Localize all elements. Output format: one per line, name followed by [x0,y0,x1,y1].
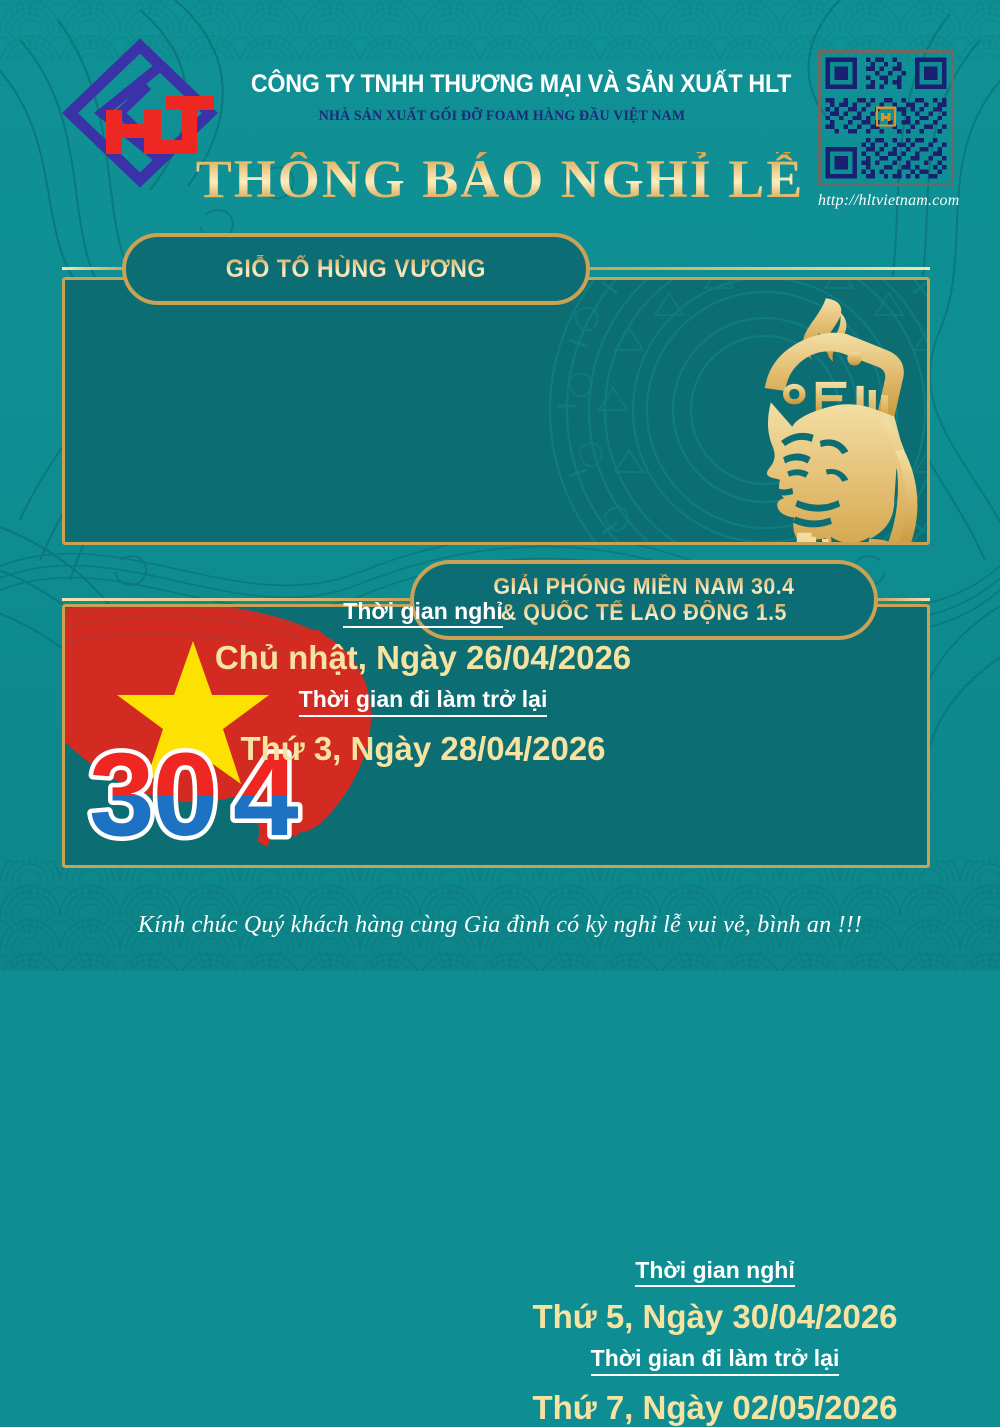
giai-phong-schedule: Thời gian nghỉ Thứ 5, Ngày 30/04/2026 Th… [475,1257,955,1427]
qr-section[interactable]: http://hltvietnam.com [818,50,954,210]
banner-header: CÔNG TY TNHH THƯƠNG MẠI VÀ SẢN XUẤT HLT … [0,0,1000,225]
holiday-card-hung-vuong: Thời gian nghỉ Chủ nhật, Ngày 26/04/2026… [62,277,930,545]
gold-rule-right [586,267,930,270]
qr-code[interactable] [818,50,954,186]
qr-code-image [821,53,951,183]
hung-king-artwork [65,280,927,542]
return-label: Thời gian đi làm trở lại [591,1345,840,1375]
pill-label-line1: GIẢI PHÓNG MIỀN NAM 30.4 [493,574,794,600]
company-identity: CÔNG TY TNHH THƯƠNG MẠI VÀ SẢN XUẤT HLT … [232,70,772,125]
holiday-announcement-banner: CÔNG TY TNHH THƯƠNG MẠI VÀ SẢN XUẤT HLT … [0,0,1000,971]
off-date: Thứ 5, Ngày 30/04/2026 [475,1298,955,1336]
page-title: THÔNG BÁO NGHỈ LỄ [180,152,820,206]
footer-greeting: Kính chúc Quý khách hàng cùng Gia đình c… [0,912,1000,939]
return-label: Thời gian đi làm trở lại [299,686,548,716]
gold-rule-left [62,267,126,270]
off-label: Thời gian nghỉ [635,1257,794,1287]
off-date: Chủ nhật, Ngày 26/04/2026 [183,639,663,677]
off-label: Thời gian nghỉ [343,598,502,628]
gold-rule-right [874,598,930,601]
website-url[interactable]: http://hltvietnam.com [818,192,954,210]
pill-label: GIỖ TỔ HÙNG VƯƠNG [226,255,486,283]
return-date: Thứ 7, Ngày 02/05/2026 [475,1389,955,1427]
return-date: Thứ 3, Ngày 28/04/2026 [183,730,663,768]
company-name: CÔNG TY TNHH THƯƠNG MẠI VÀ SẢN XUẤT HLT [251,70,753,99]
holiday-title-hung-vuong: GIỖ TỔ HÙNG VƯƠNG [122,233,590,305]
hung-vuong-schedule: Thời gian nghỉ Chủ nhật, Ngày 26/04/2026… [183,598,663,768]
company-tagline: NHÀ SẢN XUẤT GỐI ĐỠ FOAM HÀNG ĐẦU VIỆT N… [243,108,761,125]
